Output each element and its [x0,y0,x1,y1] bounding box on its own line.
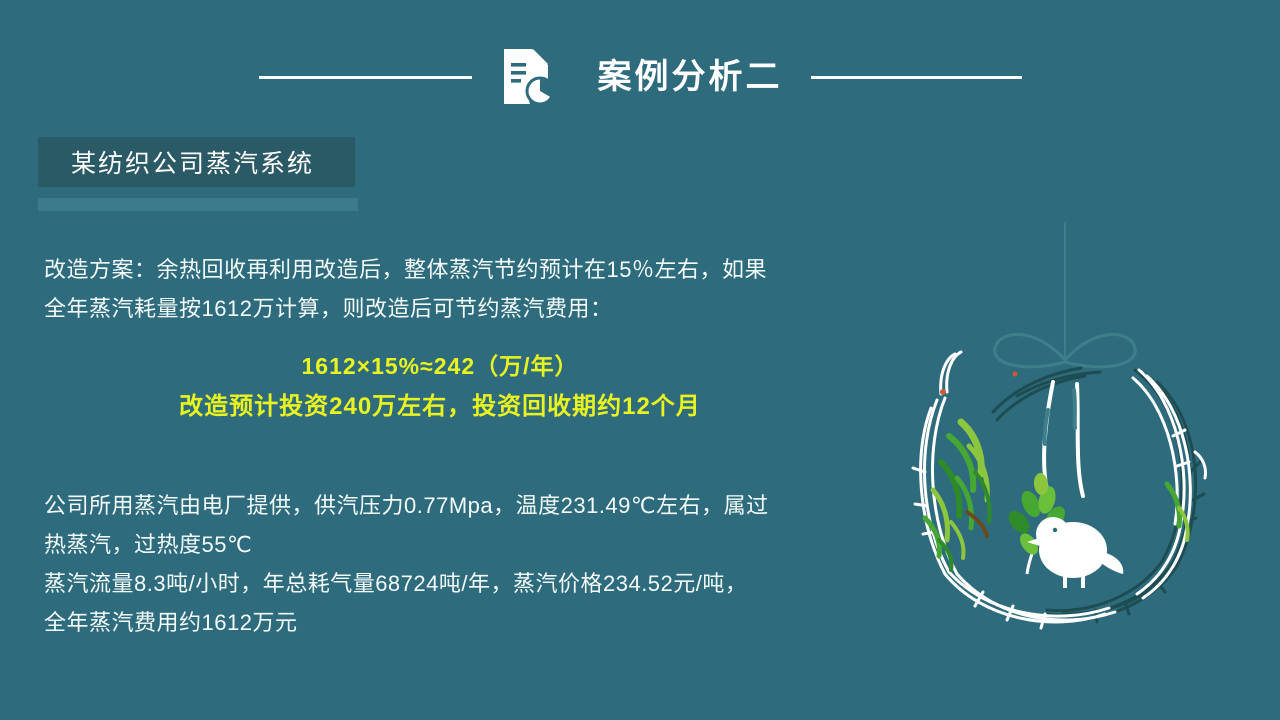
section-accent-bar [38,198,358,211]
white-dove-icon [1027,517,1123,588]
specs-line-1: 公司所用蒸汽由电厂提供，供汽压力0.77Mpa，温度231.49℃左右，属过 [44,486,769,525]
page-title: 案例分析二 [598,60,783,94]
intro-paragraph: 改造方案：余热回收再利用改造后，整体蒸汽节约预计在15％左右，如果 全年蒸汽耗量… [44,250,767,328]
slide-header: 案例分析二 [0,44,1280,110]
specs-paragraph: 公司所用蒸汽由电厂提供，供汽压力0.77Mpa，温度231.49℃左右，属过 热… [44,486,769,642]
specs-line-4: 全年蒸汽费用约1612万元 [44,603,769,642]
green-foliage-icon [925,422,989,570]
highlight-formula-line-2: 改造预计投资240万左右，投资回收期约12个月 [0,386,880,421]
specs-line-3: 蒸汽流量8.3吨/小时，年总耗气量68724吨/年，蒸汽价格234.52元/吨， [44,564,769,603]
white-ribbons-icon [1044,382,1083,496]
slide-canvas: 案例分析二 某纺织公司蒸汽系统 改造方案：余热回收再利用改造后，整体蒸汽节约预计… [0,0,1280,720]
intro-line-1: 改造方案：余热回收再利用改造后，整体蒸汽节约预计在15％左右，如果 [44,250,767,289]
hanging-wreath-illustration [895,222,1235,652]
highlight-formula-line-1: 1612×15%≈242（万/年） [0,347,880,381]
olive-branch-icon [1005,472,1069,574]
section-heading-box: 某纺织公司蒸汽系统 [38,137,355,187]
ribbon-accent [1045,390,1075,444]
intro-line-2: 全年蒸汽耗量按1612万计算，则改造后可节约蒸汽费用： [44,289,767,328]
header-title-group: 案例分析二 [500,47,783,107]
dark-twig-arc [993,368,1204,622]
header-rule-left [259,76,472,79]
document-report-icon [500,47,554,107]
green-foliage-right [1167,484,1188,540]
header-rule-right [811,76,1022,79]
section-heading-label: 某纺织公司蒸汽系统 [38,144,314,180]
berry-accent-icon [940,372,1018,396]
specs-line-2: 热蒸汽，过热度55℃ [44,525,769,564]
white-twig-arc [913,352,1206,628]
bow-knot-icon [995,334,1136,366]
